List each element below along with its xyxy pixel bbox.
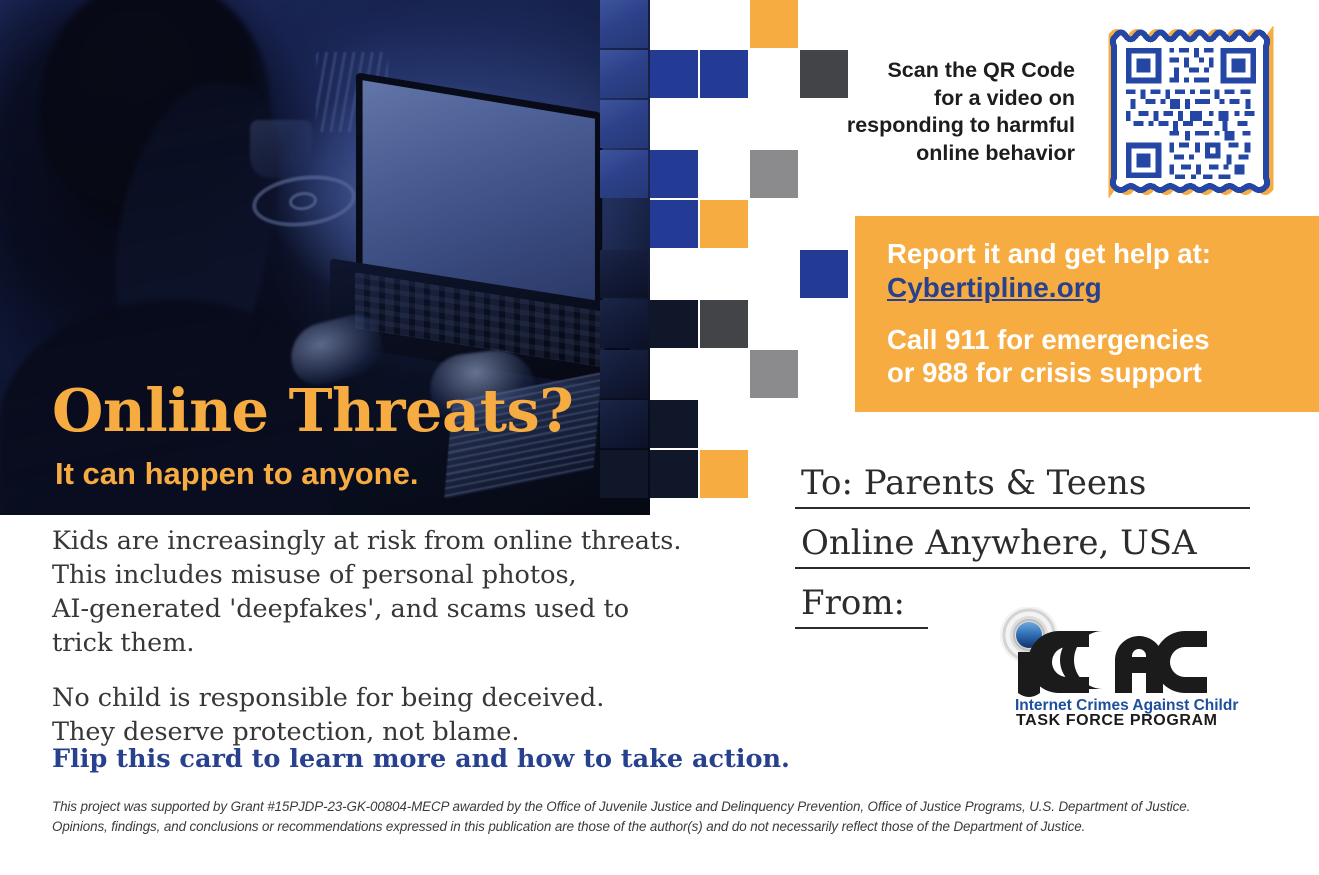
mosaic-square [750,150,798,198]
body-paragraph-1: Kids are increasingly at risk from onlin… [52,524,692,661]
emergency-line-2: or 988 for crisis support [887,356,1319,390]
body-p1-line4: trick them. [52,628,194,658]
mosaic-square [750,0,798,48]
address-rule-1 [795,507,1250,509]
mosaic-square [600,300,648,348]
address-city-line[interactable]: Online Anywhere, USA [795,526,1250,567]
body-copy: Kids are increasingly at risk from onlin… [52,524,692,749]
mosaic-square [600,100,648,148]
mosaic-square [800,250,848,298]
mosaic-square [600,250,648,298]
body-paragraph-2: No child is responsible for being deceiv… [52,681,692,749]
body-p1-line1: Kids are increasingly at risk from onlin… [52,526,681,556]
mosaic-square [600,450,648,498]
mosaic-square [650,450,698,498]
mosaic-square [650,150,698,198]
mosaic-square [600,50,648,98]
page-subtitle: It can happen to anyone. [55,458,418,489]
page-title: Online Threats? [52,381,573,440]
grant-disclaimer: This project was supported by Grant #15P… [52,797,1217,837]
flip-card-cta: Flip this card to learn more and how to … [52,744,790,774]
icac-logo: Internet Crimes Against Children TASK FO… [995,607,1239,727]
mosaic-square [750,350,798,398]
body-p1-line3: AI-generated 'deepfakes', and scams used… [52,594,629,624]
cybertipline-link[interactable]: Cybertipline.org [887,271,1102,304]
mosaic-square [600,0,648,48]
mosaic-square [700,450,748,498]
report-headline: Report it and get help at: [887,238,1319,270]
address-rule-3 [795,627,928,629]
mosaic-square [600,350,648,398]
mosaic-square [800,50,848,98]
report-help-box: Report it and get help at: Cybertipline.… [855,216,1319,412]
mosaic-square [650,200,698,248]
body-p2-line2: They deserve protection, not blame. [52,717,519,747]
mosaic-square-pattern [600,0,860,517]
mosaic-square [700,50,748,98]
address-to-line[interactable]: To: Parents & Teens [795,466,1250,507]
icac-program-text: TASK FORCE PROGRAM [1016,712,1218,727]
postcard-front: Online Threats? It can happen to anyone.… [0,0,1319,875]
mosaic-square [700,200,748,248]
mosaic-square [600,400,648,448]
mosaic-square [600,150,648,198]
mosaic-square [700,300,748,348]
mosaic-square [650,400,698,448]
address-rule-2 [795,567,1250,569]
body-p1-line2: This includes misuse of personal photos, [52,560,577,590]
mosaic-square [650,300,698,348]
qr-code[interactable] [1106,26,1276,198]
emergency-line-1: Call 911 for emergencies [887,323,1319,357]
mosaic-square [650,50,698,98]
body-p2-line1: No child is responsible for being deceiv… [52,683,604,713]
